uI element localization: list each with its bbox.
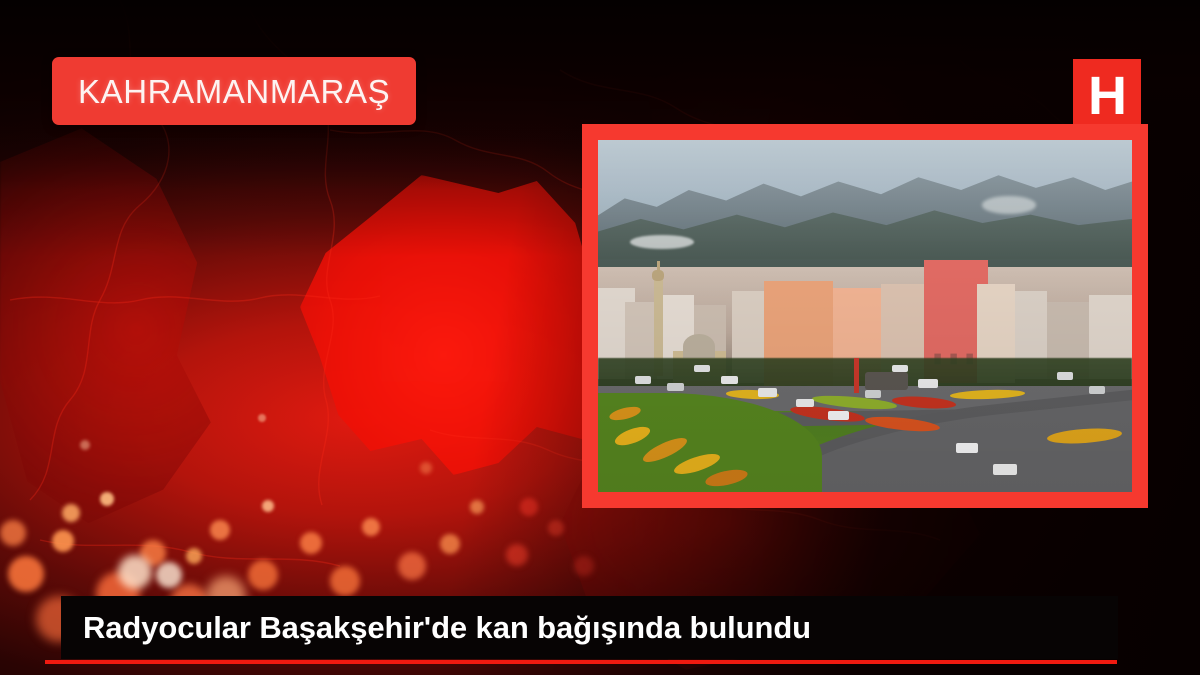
news-card: KAHRAMANMARAŞ H	[0, 0, 1200, 675]
h-logo[interactable]: H	[1073, 59, 1141, 132]
headline-underline	[45, 660, 1117, 664]
photo-frame	[582, 124, 1148, 508]
city-photo	[598, 140, 1132, 492]
h-logo-glyph: H	[1088, 69, 1126, 123]
photo-grade-overlay	[598, 140, 1132, 492]
headline-bar: Radyocular Başakşehir'de kan bağışında b…	[61, 596, 1118, 659]
location-badge: KAHRAMANMARAŞ	[52, 57, 416, 125]
location-badge-label: KAHRAMANMARAŞ	[78, 75, 390, 108]
headline-text: Radyocular Başakşehir'de kan bağışında b…	[83, 612, 811, 643]
